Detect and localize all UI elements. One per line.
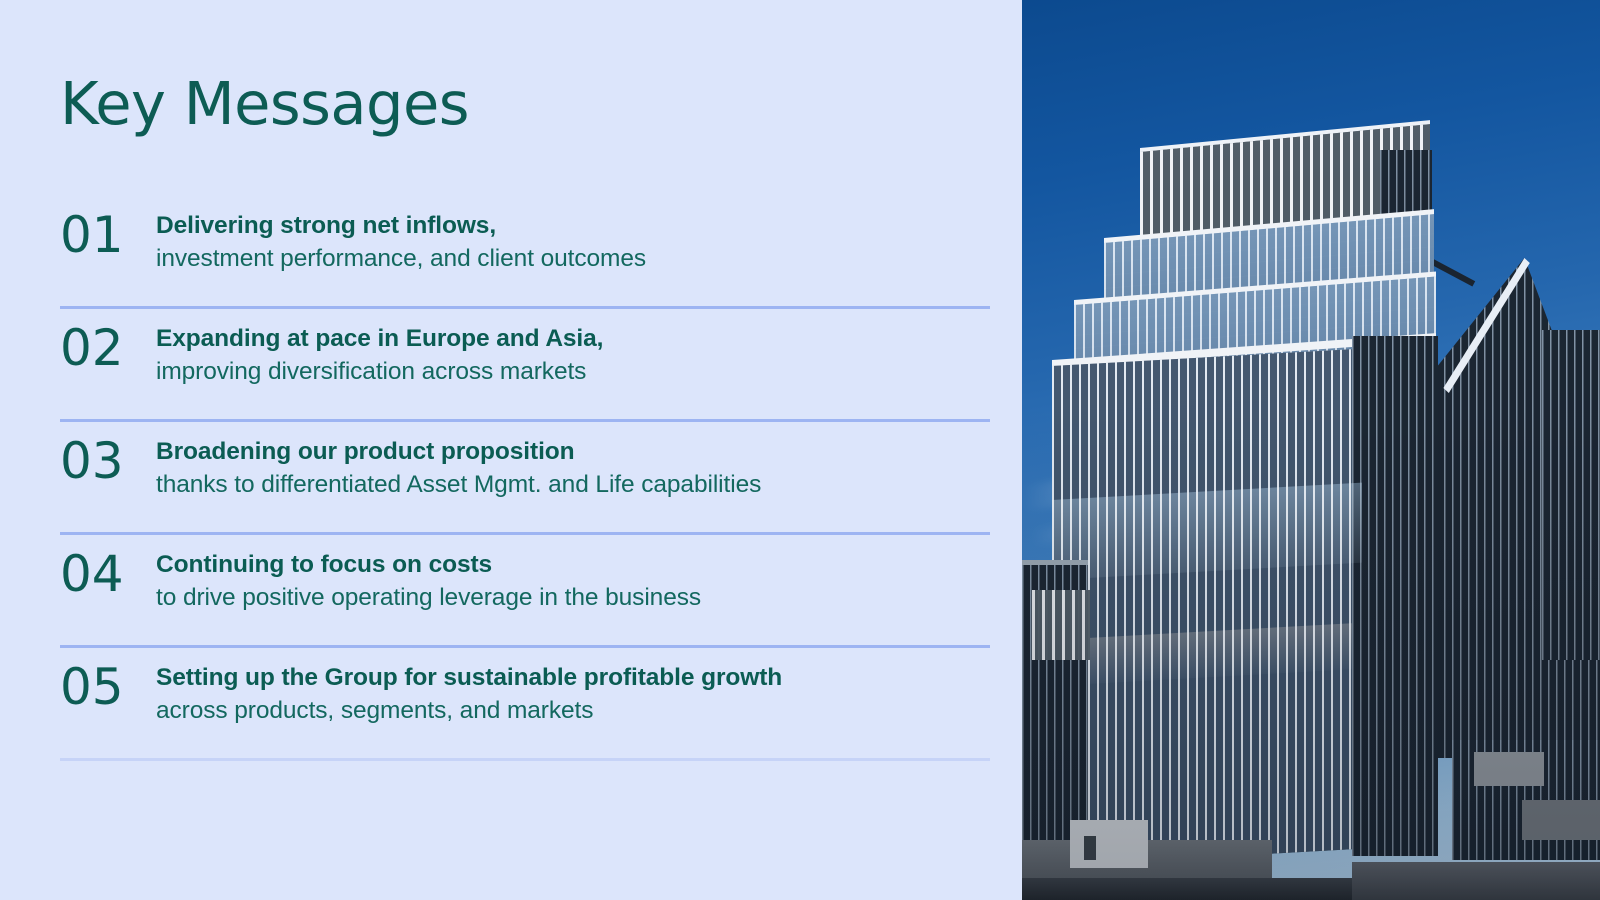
list-item-headline: Setting up the Group for sustainable pro… <box>156 662 990 693</box>
building-left-neighbour-roof <box>1022 560 1088 565</box>
list-item-headline: Delivering strong net inflows, <box>156 210 990 241</box>
list-item-number: 05 <box>60 648 156 712</box>
list-item-subline: investment performance, and client outco… <box>156 243 990 275</box>
list-item-headline: Continuing to focus on costs <box>156 549 990 580</box>
list-item-subline: improving diversification across markets <box>156 356 990 388</box>
list-item-number: 02 <box>60 309 156 373</box>
list-item-text: Setting up the Group for sustainable pro… <box>156 648 990 727</box>
list-item: 04 Continuing to focus on costs to drive… <box>60 535 990 645</box>
list-item-number: 04 <box>60 535 156 599</box>
list-item-text: Broadening our product proposition thank… <box>156 422 990 501</box>
skyline-photo <box>1022 0 1600 900</box>
list-item: 05 Setting up the Group for sustainable … <box>60 648 990 758</box>
list-item-headline: Broadening our product proposition <box>156 436 990 467</box>
stairwell-door <box>1084 836 1096 860</box>
list-item-text: Expanding at pace in Europe and Asia, im… <box>156 309 990 388</box>
list-item: 02 Expanding at pace in Europe and Asia,… <box>60 309 990 419</box>
list-item-text: Delivering strong net inflows, investmen… <box>156 196 990 275</box>
building-left-louvre-block <box>1032 590 1090 660</box>
tower-main-facade <box>1052 347 1392 866</box>
foreground-parapet <box>1022 878 1352 900</box>
key-messages-list: 01 Delivering strong net inflows, invest… <box>60 196 990 761</box>
list-item-headline: Expanding at pace in Europe and Asia, <box>156 323 990 354</box>
list-divider <box>60 758 990 761</box>
list-item-subline: to drive positive operating leverage in … <box>156 582 990 614</box>
list-item-text: Continuing to focus on costs to drive po… <box>156 535 990 614</box>
content-panel: Key Messages 01 Delivering strong net in… <box>0 0 1022 900</box>
tower-main-side-face <box>1352 336 1438 856</box>
page-title: Key Messages <box>60 74 469 133</box>
rooftop-stairwell-box <box>1070 820 1148 868</box>
list-item-number: 01 <box>60 196 156 260</box>
list-item: 01 Delivering strong net inflows, invest… <box>60 196 990 306</box>
list-item: 03 Broadening our product proposition th… <box>60 422 990 532</box>
building-right-rear <box>1542 330 1600 660</box>
rooftop-plant-box <box>1522 800 1600 840</box>
list-item-number: 03 <box>60 422 156 486</box>
list-item-subline: across products, segments, and markets <box>156 695 990 727</box>
foreground-street-plane <box>1352 862 1600 900</box>
slide-root: Key Messages 01 Delivering strong net in… <box>0 0 1600 900</box>
list-item-subline: thanks to differentiated Asset Mgmt. and… <box>156 469 990 501</box>
rooftop-plant-box <box>1474 752 1544 786</box>
